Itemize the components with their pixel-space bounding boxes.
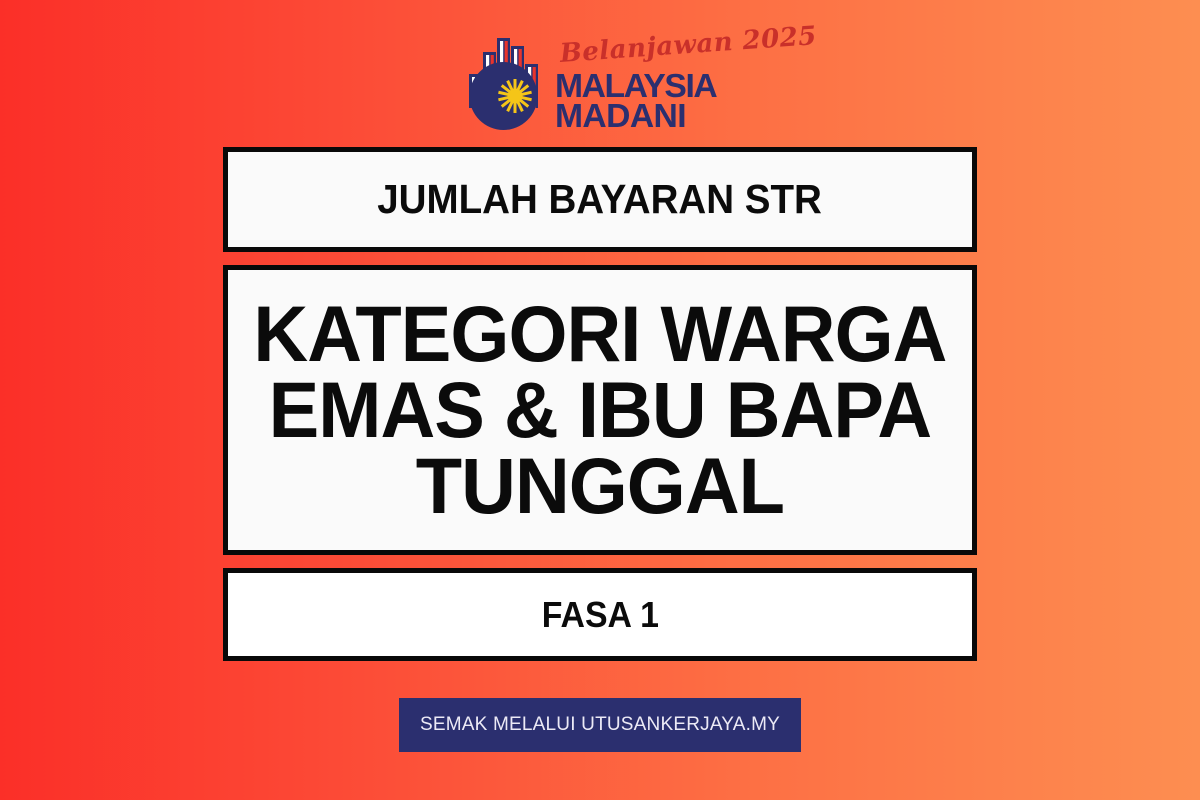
logo-name: MALAYSIA MADANI bbox=[555, 71, 739, 132]
phase-label: FASA 1 bbox=[541, 594, 658, 636]
category-panel: KATEGORI WARGA EMAS & IBU BAPA TUNGGAL bbox=[223, 265, 977, 555]
logo-name-line2: MADANI bbox=[555, 101, 739, 132]
payment-total-label: JUMLAH BAYARAN STR bbox=[378, 176, 823, 223]
malaysia-madani-logo: Belanjawan 2025 MALAYSIA MADANI bbox=[465, 16, 735, 134]
category-heading-line2: EMAS & IBU BAPA bbox=[254, 372, 947, 448]
category-heading: KATEGORI WARGA EMAS & IBU BAPA TUNGGAL bbox=[246, 296, 954, 523]
category-heading-line3: TUNGGAL bbox=[254, 448, 947, 524]
poster-canvas: Belanjawan 2025 MALAYSIA MADANI JUMLAH B… bbox=[0, 0, 1200, 800]
category-heading-line1: KATEGORI WARGA bbox=[254, 296, 947, 372]
malaysia-madani-emblem-icon bbox=[465, 26, 551, 134]
logo-budget-script: Belanjawan 2025 bbox=[559, 21, 818, 69]
logo-wordmark: Belanjawan 2025 MALAYSIA MADANI bbox=[555, 41, 735, 134]
check-source-banner[interactable]: SEMAK MELALUI UTUSANKERJAYA.MY bbox=[399, 698, 801, 752]
check-source-text: SEMAK MELALUI UTUSANKERJAYA.MY bbox=[420, 714, 780, 736]
payment-total-panel: JUMLAH BAYARAN STR bbox=[223, 147, 977, 252]
phase-panel: FASA 1 bbox=[223, 568, 977, 661]
